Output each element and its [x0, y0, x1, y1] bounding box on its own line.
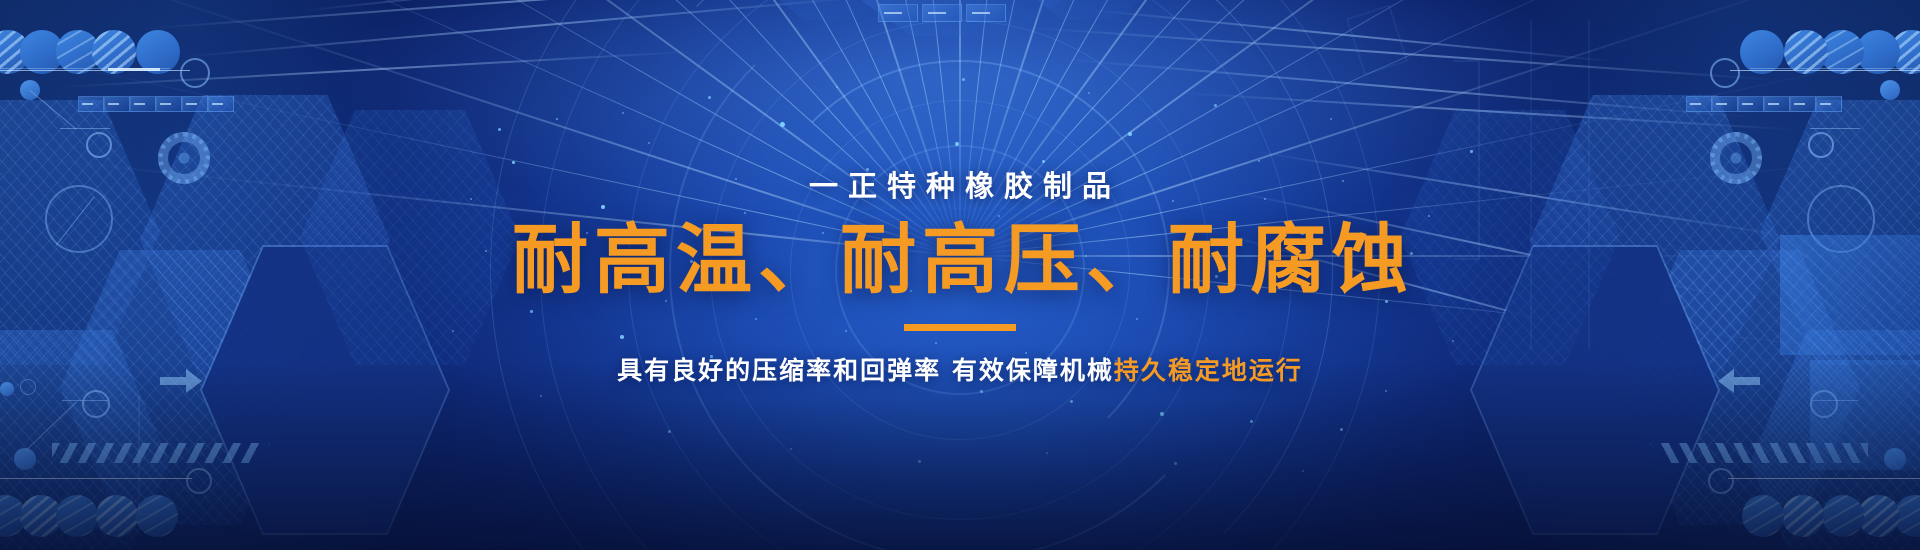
orange-divider [904, 324, 1016, 331]
banner-subtitle-highlight: 持久稳定地运行 [1114, 356, 1303, 385]
banner-subtitle-plain: 具有良好的压缩率和回弹率 有效保障机械 [617, 356, 1114, 385]
banner-content: 一正特种橡胶制品 耐高温、耐高压、耐腐蚀 具有良好的压缩率和回弹率 有效保障机械… [0, 0, 1920, 550]
banner-subtitle: 具有良好的压缩率和回弹率 有效保障机械持久稳定地运行 [617, 351, 1303, 387]
banner-headline: 耐高温、耐高压、耐腐蚀 [506, 219, 1414, 301]
banner-eyebrow: 一正特种橡胶制品 [799, 163, 1121, 205]
hero-banner: 一正特种橡胶制品 耐高温、耐高压、耐腐蚀 具有良好的压缩率和回弹率 有效保障机械… [0, 0, 1920, 550]
